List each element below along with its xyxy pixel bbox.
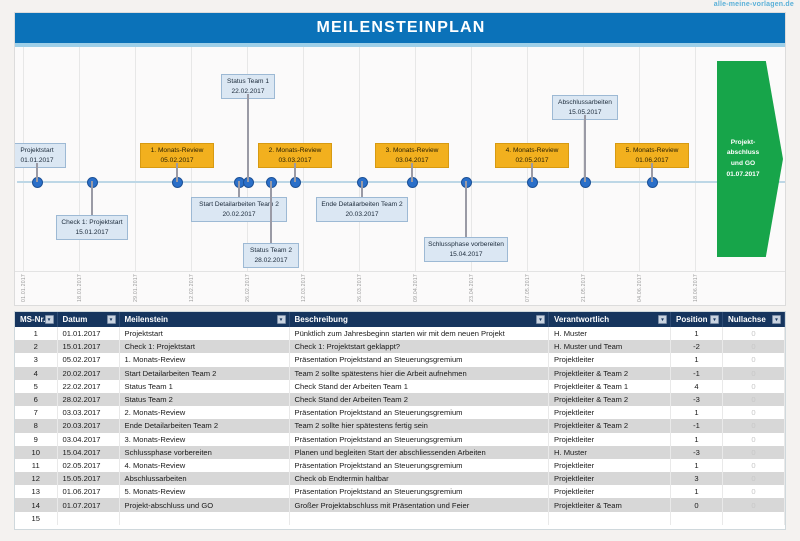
project-end-marker: Projekt- abschluss und GO 01.07.2017 (717, 61, 783, 257)
milestone-plan-app: MEILENSTEINPLAN Projektstart01.01.2017Ch… (14, 12, 786, 530)
table-cell: -3 (671, 393, 723, 406)
milestone-stem (294, 163, 296, 182)
table-cell: -2 (671, 340, 723, 353)
filter-dropdown-icon[interactable]: ▾ (658, 315, 667, 324)
table-row[interactable]: 420.02.2017Start Detailarbeiten Team 2Te… (15, 367, 785, 380)
table-cell: 13 (15, 485, 57, 498)
site-watermark: alle-meine-vorlagen.de (714, 1, 794, 8)
table-cell (119, 512, 289, 525)
table-cell: 0 (723, 472, 785, 485)
column-header-verantwortlich[interactable]: Verantwortlich▾ (549, 312, 671, 327)
timeline-chart-panel: MEILENSTEINPLAN Projektstart01.01.2017Ch… (14, 12, 786, 306)
table-row[interactable]: 1301.06.20175. Monats-ReviewPräsentation… (15, 485, 785, 498)
table-cell: Projektleiter (549, 433, 671, 446)
table-cell: 1 (671, 353, 723, 366)
table-row[interactable]: 305.02.20171. Monats-ReviewPräsentation … (15, 353, 785, 366)
milestone-date: 28.02.2017 (247, 256, 295, 266)
table-cell: 0 (671, 498, 723, 511)
table-cell: 5 (15, 380, 57, 393)
milestone-stem (176, 163, 178, 182)
milestone-label: 1. Monats-Review (144, 146, 210, 156)
filter-dropdown-icon[interactable]: ▾ (45, 315, 54, 324)
table-cell: 0 (723, 393, 785, 406)
table-row[interactable]: 820.03.2017Ende Detailarbeiten Team 2Tea… (15, 419, 785, 432)
end-marker-line3: und GO (731, 159, 755, 170)
column-header-label: Verantwortlich (554, 315, 609, 324)
table-row[interactable]: 1102.05.20174. Monats-ReviewPräsentation… (15, 459, 785, 472)
table-cell: -1 (671, 419, 723, 432)
table-cell: Großer Projektabschluss mit Präsentation… (289, 498, 549, 511)
table-cell: 02.05.2017 (57, 459, 119, 472)
table-cell: Team 2 sollte hier spätestens fertig sei… (289, 419, 549, 432)
milestone-date: 20.03.2017 (320, 210, 404, 220)
column-header-label: MS-Nr. (20, 315, 45, 324)
milestone-label: 5. Monats-Review (619, 146, 685, 156)
table-cell: -1 (671, 367, 723, 380)
table-cell: Start Detailarbeiten Team 2 (119, 367, 289, 380)
table-cell: 3 (671, 472, 723, 485)
table-cell: 6 (15, 393, 57, 406)
table-cell: 0 (723, 327, 785, 340)
table-cell: Check Stand der Arbeiten Team 2 (289, 393, 549, 406)
table-cell: Projektleiter (549, 485, 671, 498)
table-cell: 4 (15, 367, 57, 380)
table-cell: Projektleiter & Team (549, 498, 671, 511)
table-cell: 2 (15, 340, 57, 353)
milestone-callout[interactable]: Schlussphase vorbereiten15.04.2017 (424, 237, 508, 262)
column-header-label: Position (676, 315, 708, 324)
axis-tick-label: 29.01.2017 (133, 274, 139, 302)
table-cell: Check ob Endtermin haltbar (289, 472, 549, 485)
table-row[interactable]: 101.01.2017ProjektstartPünktlich zum Jah… (15, 327, 785, 340)
table-cell: 0 (723, 459, 785, 472)
table-cell: 03.04.2017 (57, 433, 119, 446)
table-cell: 1 (671, 485, 723, 498)
milestone-date: 15.01.2017 (60, 228, 124, 238)
table-cell: Status Team 1 (119, 380, 289, 393)
milestone-label: Projektstart (14, 146, 62, 156)
table-row[interactable]: 1015.04.2017Schlussphase vorbereitenPlan… (15, 446, 785, 459)
axis-tick-label: 01.01.2017 (21, 274, 27, 302)
table-cell: 9 (15, 433, 57, 446)
table-cell: 0 (723, 380, 785, 393)
table-cell: 7 (15, 406, 57, 419)
milestone-callout[interactable]: Start Detailarbeiten Team 220.02.2017 (191, 197, 287, 222)
table-cell: 15.05.2017 (57, 472, 119, 485)
table-cell: Check 1: Projektstart geklappt? (289, 340, 549, 353)
table-cell: Planen und begleiten Start der abschlies… (289, 446, 549, 459)
table-cell: 1 (671, 433, 723, 446)
milestone-label: Status Team 1 (225, 77, 271, 87)
table-cell: 12 (15, 472, 57, 485)
table-cell: Status Team 2 (119, 393, 289, 406)
table-cell: 28.02.2017 (57, 393, 119, 406)
axis-tick-label: 26.02.2017 (245, 274, 251, 302)
table-cell: 1 (671, 327, 723, 340)
axis-tick-label: 12.03.2017 (301, 274, 307, 302)
table-cell: Abschlussarbeiten (119, 472, 289, 485)
table-cell: Projektleiter & Team 1 (549, 380, 671, 393)
axis-tick-label: 09.04.2017 (413, 274, 419, 302)
milestone-label: Schlussphase vorbereiten (428, 240, 504, 250)
table-cell: Projekt-abschluss und GO (119, 498, 289, 511)
table-cell: 11 (15, 459, 57, 472)
milestone-callout[interactable]: Check 1: Projektstart15.01.2017 (56, 215, 128, 240)
milestone-table-panel: MS-Nr.▾Datum▾Meilenstein▾Beschreibung▾Ve… (14, 311, 786, 530)
axis-tick-label: 23.04.2017 (469, 274, 475, 302)
table-cell: Projektstart (119, 327, 289, 340)
table-cell: Präsentation Projektstand an Steuerungsg… (289, 353, 549, 366)
table-cell: Schlussphase vorbereiten (119, 446, 289, 459)
table-cell: 22.02.2017 (57, 380, 119, 393)
table-cell: H. Muster (549, 446, 671, 459)
table-cell: 3 (15, 353, 57, 366)
milestone-callout[interactable]: Projektstart01.01.2017 (14, 143, 66, 168)
table-cell (723, 512, 785, 525)
axis-tick-label: 04.06.2017 (637, 274, 643, 302)
table-cell: 01.06.2017 (57, 485, 119, 498)
table-cell: 5. Monats-Review (119, 485, 289, 498)
table-cell: Team 2 sollte spätestens hier die Arbeit… (289, 367, 549, 380)
table-cell: H. Muster und Team (549, 340, 671, 353)
table-row[interactable]: 703.03.20172. Monats-ReviewPräsentation … (15, 406, 785, 419)
end-marker-line1: Projekt- (731, 138, 756, 149)
table-row[interactable]: 903.04.20173. Monats-ReviewPräsentation … (15, 433, 785, 446)
table-cell: 0 (723, 406, 785, 419)
table-cell: H. Muster (549, 327, 671, 340)
table-body: 101.01.2017ProjektstartPünktlich zum Jah… (15, 327, 785, 525)
filter-dropdown-icon[interactable]: ▾ (536, 315, 545, 324)
timeline-axis (17, 181, 785, 183)
table-cell: 05.02.2017 (57, 353, 119, 366)
table-cell: 01.01.2017 (57, 327, 119, 340)
table-cell (671, 512, 723, 525)
table-cell: 01.07.2017 (57, 498, 119, 511)
table-cell: Präsentation Projektstand an Steuerungsg… (289, 485, 549, 498)
table-cell: 0 (723, 419, 785, 432)
milestone-label: Ende Detailarbeiten Team 2 (320, 200, 404, 210)
column-header-beschreibung[interactable]: Beschreibung▾ (289, 312, 549, 327)
milestone-date: 15.04.2017 (428, 250, 504, 260)
axis-tick-label: 12.02.2017 (189, 274, 195, 302)
table-cell: Check Stand der Arbeiten Team 1 (289, 380, 549, 393)
table-cell: Projektleiter (549, 406, 671, 419)
milestone-label: Check 1: Projektstart (60, 218, 124, 228)
table-cell: -3 (671, 446, 723, 459)
table-cell: Projektleiter & Team 2 (549, 367, 671, 380)
column-header-label: Nullachse (728, 315, 766, 324)
milestone-stem (651, 163, 653, 182)
milestone-callout[interactable]: Ende Detailarbeiten Team 220.03.2017 (316, 197, 408, 222)
table-cell: 2. Monats-Review (119, 406, 289, 419)
table-cell: 3. Monats-Review (119, 433, 289, 446)
table-cell: 0 (723, 353, 785, 366)
table-cell: Projektleiter (549, 353, 671, 366)
table-cell: Präsentation Projektstand an Steuerungsg… (289, 406, 549, 419)
milestone-table: MS-Nr.▾Datum▾Meilenstein▾Beschreibung▾Ve… (15, 312, 785, 525)
column-header-nullachse[interactable]: Nullachse▾ (723, 312, 785, 327)
milestone-label: 2. Monats-Review (262, 146, 328, 156)
gridline (135, 47, 136, 271)
column-header-meilenstein[interactable]: Meilenstein▾ (119, 312, 289, 327)
column-header-label: Meilenstein (125, 315, 169, 324)
table-cell: Projektleiter & Team 2 (549, 393, 671, 406)
table-row[interactable]: 1215.05.2017AbschlussarbeitenCheck ob En… (15, 472, 785, 485)
table-cell: Präsentation Projektstand an Steuerungsg… (289, 433, 549, 446)
column-header-label: Beschreibung (295, 315, 348, 324)
table-cell: 20.03.2017 (57, 419, 119, 432)
table-cell: 15 (15, 512, 57, 525)
milestone-label: Status Team 2 (247, 246, 295, 256)
table-cell: Präsentation Projektstand an Steuerungsg… (289, 459, 549, 472)
table-cell: Projektleiter (549, 459, 671, 472)
gridline (359, 47, 360, 271)
milestone-stem (411, 163, 413, 182)
axis-tick-label: 21.05.2017 (581, 274, 587, 302)
table-cell (549, 512, 671, 525)
table-cell: 0 (723, 433, 785, 446)
table-row[interactable]: 15 (15, 512, 785, 525)
table-cell: 1 (671, 406, 723, 419)
column-header-position[interactable]: Position▾ (671, 312, 723, 327)
milestone-stem (36, 163, 38, 182)
axis-tick-label: 18.06.2017 (693, 274, 699, 302)
end-marker-line2: abschluss (727, 148, 759, 159)
milestone-stem (361, 181, 363, 197)
axis-tick-label: 26.03.2017 (357, 274, 363, 302)
table-cell: 03.03.2017 (57, 406, 119, 419)
milestone-label: 4. Monats-Review (499, 146, 565, 156)
filter-dropdown-icon[interactable]: ▾ (277, 315, 286, 324)
table-cell: 15.01.2017 (57, 340, 119, 353)
table-header-row: MS-Nr.▾Datum▾Meilenstein▾Beschreibung▾Ve… (15, 312, 785, 327)
table-cell: Pünktlich zum Jahresbeginn starten wir m… (289, 327, 549, 340)
table-cell (289, 512, 549, 525)
table-cell (57, 512, 119, 525)
axis-tick-labels: 01.01.201718.01.201729.01.201712.02.2017… (15, 271, 786, 306)
table-row[interactable]: 1401.07.2017Projekt-abschluss und GOGroß… (15, 498, 785, 511)
table-cell: 4 (671, 380, 723, 393)
table-cell: 20.02.2017 (57, 367, 119, 380)
page-title: MEILENSTEINPLAN (15, 13, 786, 43)
table-cell: Projektleiter & Team 2 (549, 419, 671, 432)
milestone-label: Abschlussarbeiten (556, 98, 614, 108)
milestone-date: 01.01.2017 (14, 156, 62, 166)
column-header-datum[interactable]: Datum▾ (57, 312, 119, 327)
table-cell: 0 (723, 446, 785, 459)
table-cell: 0 (723, 485, 785, 498)
gridline (695, 47, 696, 271)
table-cell: 8 (15, 419, 57, 432)
table-row[interactable]: 628.02.2017Status Team 2Check Stand der … (15, 393, 785, 406)
milestone-stem (238, 181, 240, 197)
table-cell: Ende Detailarbeiten Team 2 (119, 419, 289, 432)
axis-tick-label: 07.05.2017 (525, 274, 531, 302)
table-cell: Projektleiter (549, 472, 671, 485)
end-marker-line4: 01.07.2017 (726, 170, 759, 181)
table-cell: 1 (671, 459, 723, 472)
table-cell: 1 (15, 327, 57, 340)
table-cell: 0 (723, 340, 785, 353)
milestone-stem (465, 181, 467, 237)
table-cell: 0 (723, 498, 785, 511)
filter-dropdown-icon[interactable]: ▾ (107, 315, 116, 324)
axis-tick-label: 18.01.2017 (77, 274, 83, 302)
table-cell: 10 (15, 446, 57, 459)
table-cell: 4. Monats-Review (119, 459, 289, 472)
filter-dropdown-icon[interactable]: ▾ (772, 315, 781, 324)
milestone-stem (270, 181, 272, 243)
table-cell: Check 1: Projektstart (119, 340, 289, 353)
milestone-callout[interactable]: Status Team 228.02.2017 (243, 243, 299, 268)
milestone-stem (584, 115, 586, 182)
column-header-ms-nr[interactable]: MS-Nr.▾ (15, 312, 57, 327)
filter-dropdown-icon[interactable]: ▾ (710, 315, 719, 324)
table-cell: 15.04.2017 (57, 446, 119, 459)
table-cell: 14 (15, 498, 57, 511)
table-cell: 0 (723, 367, 785, 380)
milestone-label: 3. Monats-Review (379, 146, 445, 156)
column-header-label: Datum (63, 315, 88, 324)
milestone-stem (247, 94, 249, 182)
table-row[interactable]: 522.02.2017Status Team 1Check Stand der … (15, 380, 785, 393)
timeline-plot-area: Projektstart01.01.2017Check 1: Projektst… (15, 47, 786, 271)
table-cell: 1. Monats-Review (119, 353, 289, 366)
milestone-stem (531, 163, 533, 182)
milestone-stem (91, 181, 93, 215)
table-row[interactable]: 215.01.2017Check 1: ProjektstartCheck 1:… (15, 340, 785, 353)
